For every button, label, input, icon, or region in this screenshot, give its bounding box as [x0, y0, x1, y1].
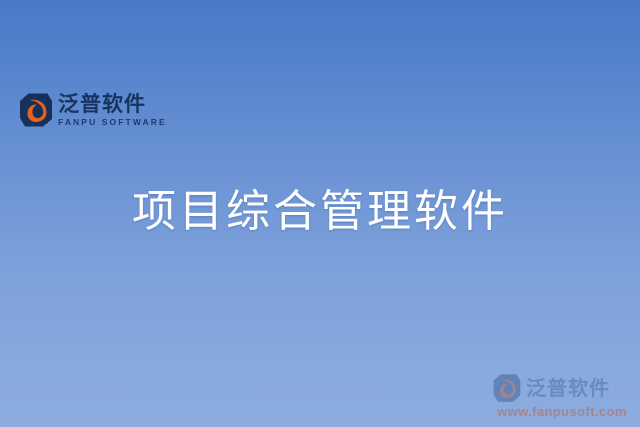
page-title: 项目综合管理软件 [0, 186, 640, 237]
fanpu-logo-mark-icon [19, 92, 53, 128]
fanpu-watermark-logo-mark-icon [492, 373, 522, 403]
brand-logo: 泛普软件 FANPU SOFTWARE [19, 88, 167, 132]
watermark: 泛普软件 www.fanpusoft.com [492, 373, 632, 419]
watermark-url: www.fanpusoft.com [492, 404, 632, 419]
watermark-name-cn: 泛普软件 [526, 378, 610, 398]
presentation-slide: 泛普软件 FANPU SOFTWARE 项目综合管理软件 泛普软件 www.fa… [0, 0, 640, 427]
watermark-logo-row: 泛普软件 [492, 373, 632, 403]
brand-name-cn: 泛普软件 [58, 93, 167, 115]
brand-name-en: FANPU SOFTWARE [58, 118, 167, 127]
brand-wordmark: 泛普软件 FANPU SOFTWARE [58, 93, 167, 127]
